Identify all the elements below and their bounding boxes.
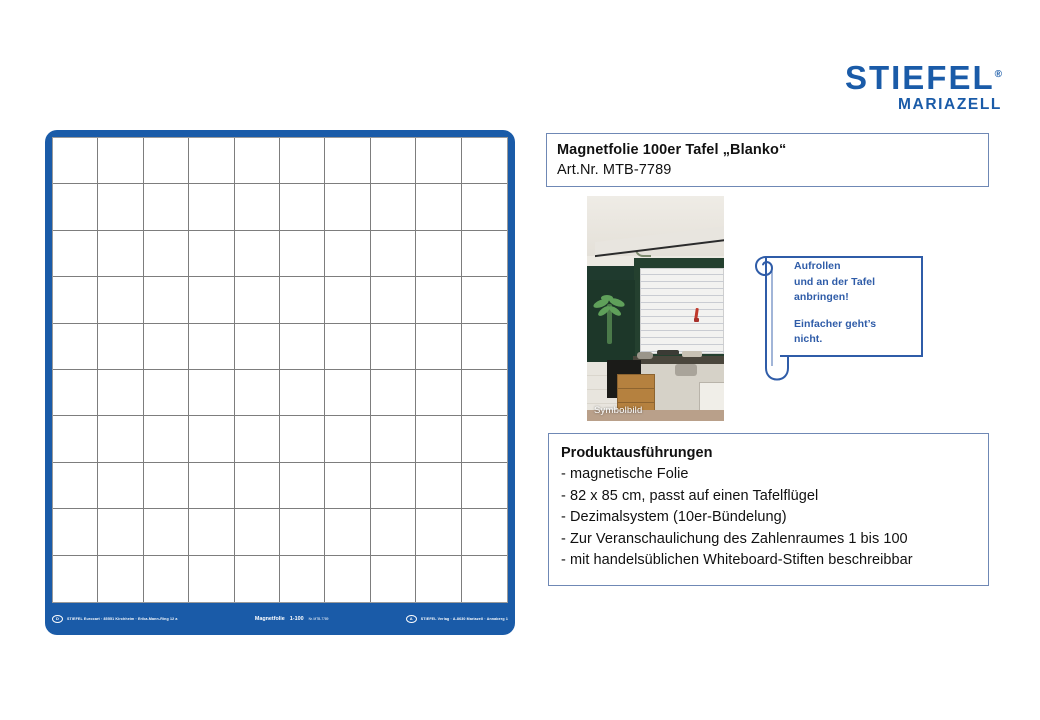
grid-cell xyxy=(325,231,370,277)
footer-left: D STIEFEL Eurocart · 85551 Kirchheim · E… xyxy=(52,615,178,623)
scroll-line-3: anbringen! xyxy=(794,291,849,303)
grid-cell xyxy=(325,138,370,184)
grid-cell xyxy=(53,138,98,184)
grid-cell xyxy=(280,370,325,416)
registered-mark: ® xyxy=(995,69,1002,80)
footer-center: Magnetfolie 1-100 Nr. MTB-7789 xyxy=(178,616,406,622)
grid-cell xyxy=(235,277,280,323)
grid-cell xyxy=(462,463,507,509)
grid-cell xyxy=(280,324,325,370)
grid-cell xyxy=(144,463,189,509)
grid-cell xyxy=(280,463,325,509)
grid-cell xyxy=(325,277,370,323)
scroll-note-graphic: Aufrollen und an der Tafel anbringen! Ei… xyxy=(752,248,932,382)
grid-cell xyxy=(98,556,143,602)
grid-cell xyxy=(371,463,416,509)
grid-cell xyxy=(280,556,325,602)
grid-cell xyxy=(235,324,280,370)
hundred-grid xyxy=(53,138,507,602)
grid-cell xyxy=(144,231,189,277)
grid-cell xyxy=(325,416,370,462)
grid-cell xyxy=(235,138,280,184)
photo-sink xyxy=(675,364,697,376)
photo-cabinet-drawer-line xyxy=(618,402,654,403)
scroll-line-1: Aufrollen xyxy=(794,260,841,272)
grid-cell xyxy=(371,556,416,602)
grid-cell xyxy=(235,556,280,602)
grid-cell xyxy=(53,416,98,462)
grid-cell xyxy=(462,370,507,416)
grid-cell xyxy=(371,416,416,462)
grid-cell xyxy=(144,556,189,602)
scroll-line-5: nicht. xyxy=(794,333,822,345)
grid-cell xyxy=(53,370,98,416)
footer-right: A STIEFEL Verlag · A-8630 Mariazell · An… xyxy=(406,615,508,623)
grid-cell xyxy=(235,184,280,230)
country-badge-de: D xyxy=(52,615,63,623)
grid-cell xyxy=(416,324,461,370)
grid-cell xyxy=(371,370,416,416)
grid-cell xyxy=(144,509,189,555)
grid-cell xyxy=(98,138,143,184)
grid-cell xyxy=(53,463,98,509)
brand-name: STIEFEL® xyxy=(812,58,1002,95)
grid-cell xyxy=(416,556,461,602)
grid-cell xyxy=(53,277,98,323)
grid-cell xyxy=(98,231,143,277)
grid-cell xyxy=(371,277,416,323)
product-detail-item: - magnetische Folie xyxy=(561,464,988,486)
footer-product-title: Magnetfolie xyxy=(255,616,285,622)
grid-cell xyxy=(280,138,325,184)
grid-cell xyxy=(280,184,325,230)
grid-cell xyxy=(416,509,461,555)
grid-cell xyxy=(189,556,234,602)
grid-cell xyxy=(416,277,461,323)
grid-cell xyxy=(325,184,370,230)
grid-cell xyxy=(280,277,325,323)
grid-cell xyxy=(371,231,416,277)
grid-cell xyxy=(280,231,325,277)
grid-cell xyxy=(98,509,143,555)
footer-right-address: STIEFEL Verlag · A-8630 Mariazell · Anna… xyxy=(421,617,508,621)
grid-cell xyxy=(189,277,234,323)
grid-cell xyxy=(235,509,280,555)
hundred-grid-board: D STIEFEL Eurocart · 85551 Kirchheim · E… xyxy=(45,130,515,635)
photo-roll-sheet-lines xyxy=(640,268,724,354)
grid-cell xyxy=(462,277,507,323)
grid-cell xyxy=(325,556,370,602)
grid-cell xyxy=(462,184,507,230)
grid-cell xyxy=(53,184,98,230)
grid-cell xyxy=(280,509,325,555)
product-details-heading: Produktausführungen xyxy=(561,442,988,464)
product-detail-item: - 82 x 85 cm, passt auf einen Tafelflüge… xyxy=(561,486,988,508)
grid-cell xyxy=(189,370,234,416)
grid-cell xyxy=(235,231,280,277)
photo-red-marker-cap xyxy=(694,318,699,322)
product-detail-item: - mit handelsüblichen Whiteboard-Stiften… xyxy=(561,550,988,572)
grid-cell xyxy=(53,509,98,555)
scroll-text-gap xyxy=(794,306,919,317)
grid-cell xyxy=(98,416,143,462)
grid-cell xyxy=(325,509,370,555)
photo-desk-item xyxy=(637,352,653,359)
grid-cell xyxy=(462,324,507,370)
photo-cabinet-drawer-line xyxy=(618,388,654,389)
grid-cell xyxy=(235,463,280,509)
grid-cell xyxy=(53,324,98,370)
photo-caption: Symbolbild xyxy=(594,405,642,416)
board-white-area xyxy=(52,137,508,603)
grid-cell xyxy=(235,416,280,462)
product-title: Magnetfolie 100er Tafel „Blanko“ xyxy=(557,141,988,160)
grid-cell xyxy=(325,463,370,509)
grid-cell xyxy=(416,463,461,509)
footer-product-code: 1-100 xyxy=(290,616,304,622)
brand-subtitle: MARIAZELL xyxy=(812,96,1002,113)
grid-cell xyxy=(416,416,461,462)
grid-cell xyxy=(371,509,416,555)
product-details-box: Produktausführungen - magnetische Folie … xyxy=(548,433,989,586)
grid-cell xyxy=(416,184,461,230)
grid-cell xyxy=(189,231,234,277)
grid-cell xyxy=(462,231,507,277)
photo-desk-item xyxy=(657,350,679,355)
grid-cell xyxy=(462,556,507,602)
product-detail-item: - Zur Veranschaulichung des Zahlenraumes… xyxy=(561,529,988,551)
scroll-note-text: Aufrollen und an der Tafel anbringen! Ei… xyxy=(794,259,919,348)
product-article-number: Art.Nr. MTB-7789 xyxy=(557,160,988,180)
grid-cell xyxy=(235,370,280,416)
grid-cell xyxy=(144,370,189,416)
product-photo: Symbolbild xyxy=(587,196,724,421)
grid-cell xyxy=(189,509,234,555)
grid-cell xyxy=(462,416,507,462)
grid-cell xyxy=(189,138,234,184)
grid-cell xyxy=(189,324,234,370)
grid-cell xyxy=(371,138,416,184)
photo-palm-frond xyxy=(601,295,613,301)
grid-cell xyxy=(416,370,461,416)
grid-cell xyxy=(144,416,189,462)
stiefel-logo: STIEFEL® MARIAZELL xyxy=(812,58,1002,112)
grid-cell xyxy=(98,184,143,230)
grid-cell xyxy=(280,416,325,462)
grid-cell xyxy=(98,463,143,509)
grid-cell xyxy=(325,324,370,370)
grid-cell xyxy=(462,509,507,555)
grid-cell xyxy=(416,231,461,277)
grid-cell xyxy=(189,463,234,509)
grid-cell xyxy=(53,556,98,602)
footer-left-address: STIEFEL Eurocart · 85551 Kirchheim · Eri… xyxy=(67,617,178,621)
grid-cell xyxy=(416,138,461,184)
grid-cell xyxy=(98,324,143,370)
grid-cell xyxy=(189,416,234,462)
product-detail-item: - Dezimalsystem (10er-Bündelung) xyxy=(561,507,988,529)
grid-cell xyxy=(144,138,189,184)
board-footer-bar: D STIEFEL Eurocart · 85551 Kirchheim · E… xyxy=(52,603,508,635)
footer-product-art: Nr. MTB-7789 xyxy=(309,617,329,621)
grid-cell xyxy=(371,324,416,370)
grid-cell xyxy=(189,184,234,230)
grid-cell xyxy=(98,370,143,416)
photo-desk-item xyxy=(682,351,702,357)
grid-cell xyxy=(371,184,416,230)
grid-cell xyxy=(462,138,507,184)
grid-cell xyxy=(98,277,143,323)
product-title-box: Magnetfolie 100er Tafel „Blanko“ Art.Nr.… xyxy=(546,133,989,187)
grid-cell xyxy=(144,277,189,323)
scroll-line-2: und an der Tafel xyxy=(794,276,875,288)
grid-cell xyxy=(144,184,189,230)
country-badge-at: A xyxy=(406,615,417,623)
scroll-line-4: Einfacher geht’s xyxy=(794,318,876,330)
grid-cell xyxy=(325,370,370,416)
grid-cell xyxy=(144,324,189,370)
grid-cell xyxy=(53,231,98,277)
